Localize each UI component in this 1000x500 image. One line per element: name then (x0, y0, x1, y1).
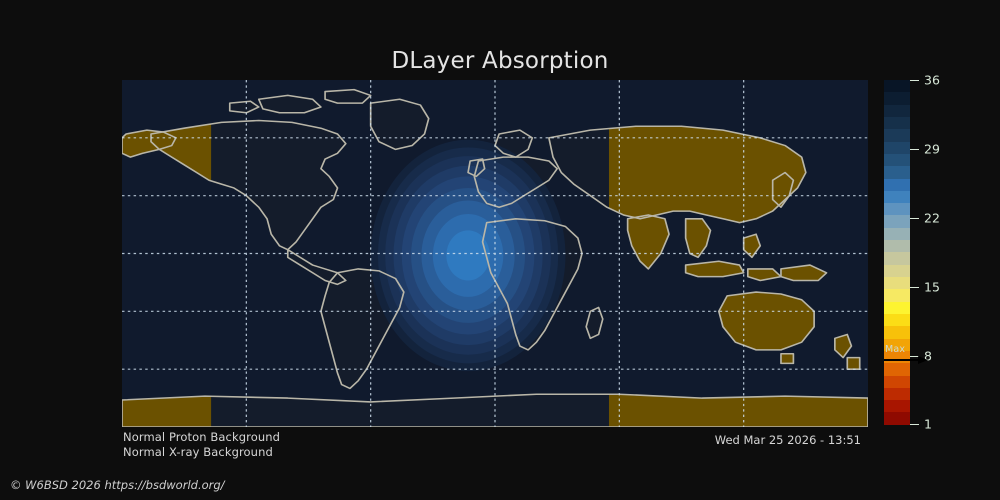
colorbar-band (884, 215, 910, 227)
colorbar-ticks: 3629221581 (910, 80, 970, 425)
colorbar-band (884, 314, 910, 326)
colorbar-band (884, 191, 910, 203)
colorbar-tick-label: 22 (924, 211, 940, 226)
colorbar-band (884, 80, 910, 92)
colorbar-tick-label: 36 (924, 73, 940, 88)
colorbar-band (884, 265, 910, 277)
xray-background-note: Normal X-ray Background (123, 445, 273, 459)
colorbar-band (884, 105, 910, 117)
colorbar-band (884, 117, 910, 129)
colorbar-band (884, 412, 910, 424)
colorbar-band (884, 166, 910, 178)
colorbar-band (884, 92, 910, 104)
colorbar-tick (910, 218, 919, 219)
colorbar-tick-label: 29 (924, 142, 940, 157)
credit-line: © W6BSD 2026 https://bsdworld.org/ (10, 478, 225, 492)
colorbar-band (884, 179, 910, 191)
proton-background-note: Normal Proton Background (123, 430, 280, 444)
timestamp: Wed Mar 25 2026 - 13:51 (715, 433, 861, 447)
absorption-contours (371, 140, 566, 371)
map-canvas (122, 80, 868, 427)
colorbar-tick (910, 149, 919, 150)
colorbar-max-label: Max (885, 344, 905, 355)
page-root: DLayer Absorption (0, 0, 1000, 500)
arrow-right-icon (884, 355, 930, 365)
colorbar-band (884, 129, 910, 141)
colorbar-band (884, 142, 910, 154)
colorbar-band (884, 154, 910, 166)
colorbar-tick (910, 424, 919, 425)
colorbar-max-marker: Max (884, 344, 930, 366)
page-title: DLayer Absorption (0, 48, 1000, 74)
colorbar[interactable] (884, 80, 910, 425)
colorbar-band (884, 277, 910, 289)
colorbar-tick (910, 80, 919, 81)
colorbar-band (884, 252, 910, 264)
colorbar-band (884, 289, 910, 301)
colorbar-tick (910, 287, 919, 288)
colorbar-band (884, 326, 910, 338)
colorbar-band (884, 240, 910, 252)
colorbar-band (884, 302, 910, 314)
colorbar-band (884, 376, 910, 388)
world-map[interactable] (122, 80, 868, 427)
colorbar-tick-label: 15 (924, 280, 940, 295)
colorbar-band (884, 228, 910, 240)
colorbar-band (884, 400, 910, 412)
colorbar-band (884, 203, 910, 215)
colorbar-band (884, 388, 910, 400)
colorbar-tick-label: 1 (924, 417, 932, 432)
